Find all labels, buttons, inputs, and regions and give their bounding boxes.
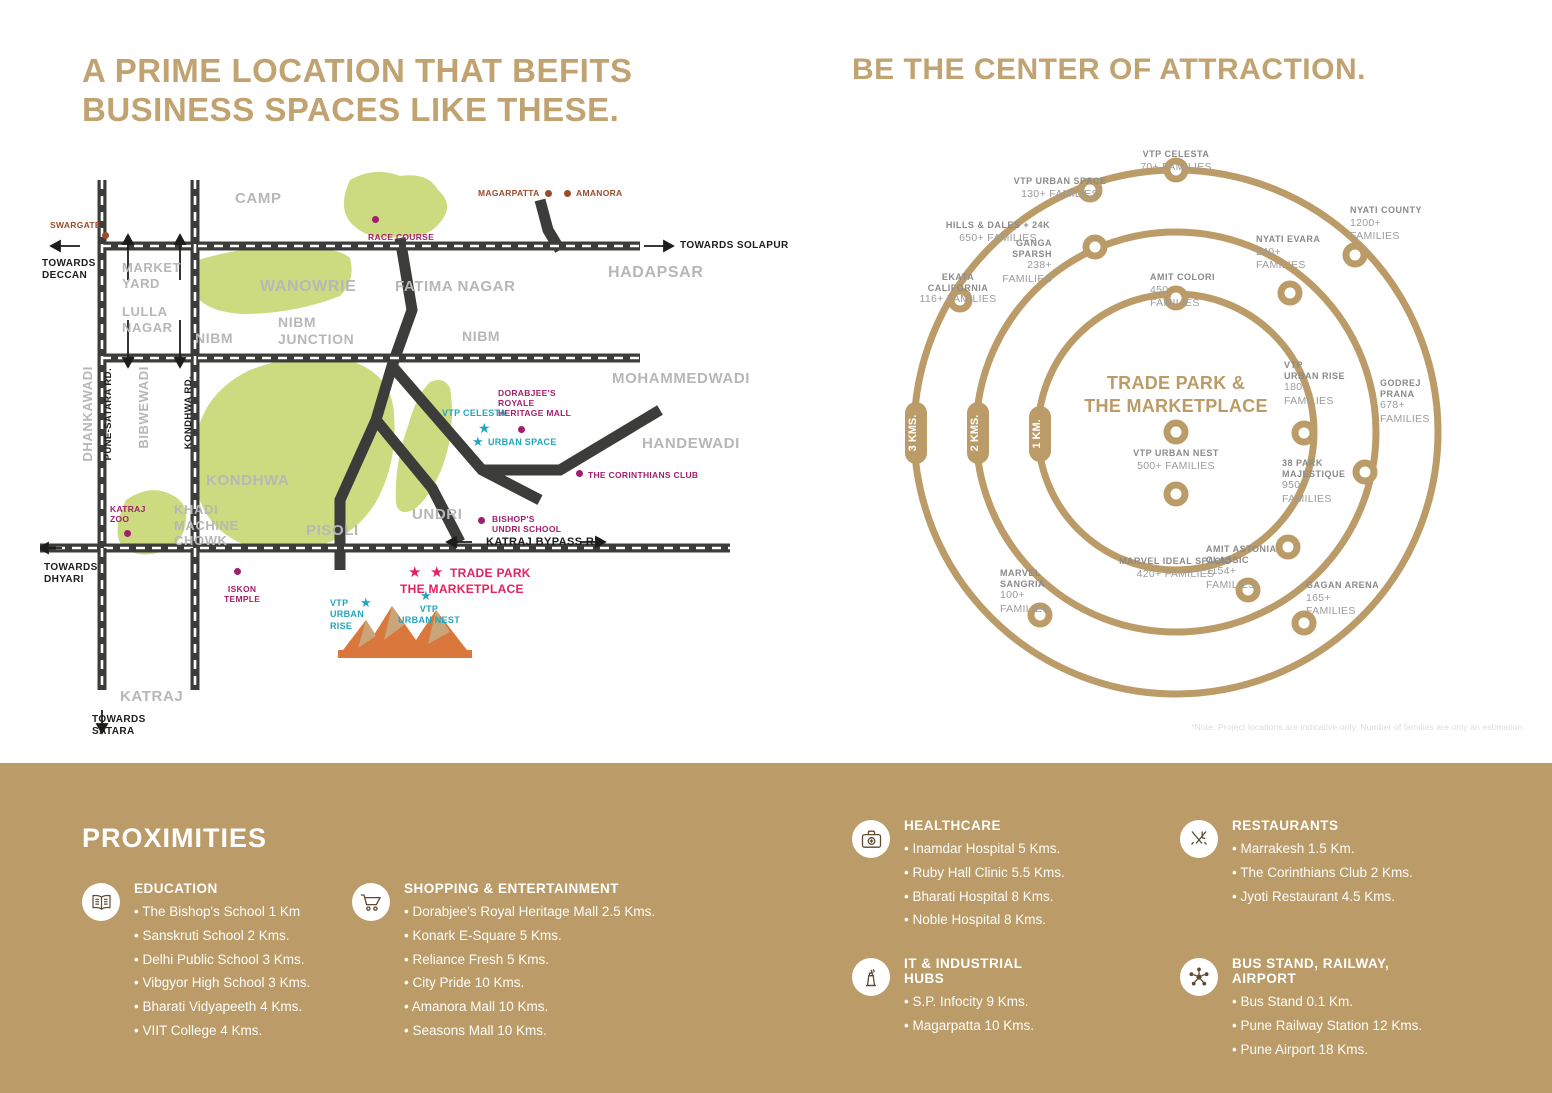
map-area-kondhwa: KONDHWA (206, 472, 289, 489)
location-map: CAMP MARKETYARD LULLANAGAR WANOWRIE NIBM… (40, 170, 780, 750)
category-title-education: EDUCATION (134, 881, 310, 896)
category-list-education: The Bishop's School 1 Km Sanskruti Schoo… (134, 900, 310, 1043)
map-poi-bishops-undri: BISHOP'SUNDRI SCHOOL (492, 514, 561, 534)
list-item: Ruby Hall Clinic 5.5 Kms. (904, 861, 1065, 885)
rings-project-vtp-urban-space: VTP URBAN SPACE130+ FAMILIES (1000, 176, 1120, 202)
map-poi-magarpatta: MAGARPATTA (478, 188, 540, 198)
map-area-hadapsar: HADAPSAR (608, 264, 703, 282)
category-list-transport: Bus Stand 0.1 Km. Pune Railway Station 1… (1232, 990, 1422, 1061)
list-item: Vibgyor High School 3 Kms. (134, 971, 310, 995)
book-icon (82, 883, 120, 921)
category-title-transport: BUS STAND, RAILWAY, AIRPORT (1232, 956, 1422, 986)
map-area-khadi-machine-chowk: KHADIMACHINECHOWK (174, 502, 239, 549)
map-area-nibm-1: NIBM (195, 330, 233, 346)
star-icon-trade-park-1: ★ (408, 563, 421, 581)
proximities-title: PROXIMITIES (82, 823, 267, 854)
category-list-restaurants: Marrakesh 1.5 Km. The Corinthians Club 2… (1232, 837, 1413, 908)
factory-icon (852, 958, 890, 996)
map-poi-amanora: AMANORA (576, 188, 622, 198)
map-area-bibwewadi: BIBWEWADI (136, 366, 151, 449)
rings-project-nyati-evara: NYATI EVARA240+FAMILIES (1256, 234, 1376, 273)
category-title-it-hubs: IT & INDUSTRIAL HUBS (904, 956, 1034, 986)
green-areas (117, 172, 452, 555)
list-item: Bharati Vidyapeeth 4 Kms. (134, 995, 310, 1019)
category-list-healthcare: Inamdar Hospital 5 Kms. Ruby Hall Clinic… (904, 837, 1065, 932)
map-poi-dorabjees: DORABJEE'SROYALEHERITAGE MALL (498, 388, 571, 419)
svg-text:2 KMS.: 2 KMS. (969, 415, 981, 452)
map-roads-svg (40, 170, 780, 750)
list-item: Bus Stand 0.1 Km. (1232, 990, 1422, 1014)
star-icon-trade-park-2: ★ (430, 563, 443, 581)
map-area-pisoli: PISOLI (306, 522, 359, 539)
left-heading: A PRIME LOCATION THAT BEFITS BUSINESS SP… (82, 52, 722, 130)
star-icon-urban-space: ★ (472, 434, 484, 450)
map-area-lulla-nagar: LULLANAGAR (122, 304, 173, 335)
list-item: Amanora Mall 10 Kms. (404, 995, 655, 1019)
category-list-shopping: Dorabjee's Royal Heritage Mall 2.5 Kms. … (404, 900, 655, 1043)
map-area-handewadi: HANDEWADI (642, 435, 740, 452)
rings-project-vtp-urban-rise: VTPURBAN RISE180+FAMILIES (1284, 360, 1404, 408)
map-dot-bishops-undri (478, 517, 485, 524)
map-road-kondhwa: KONDHWA RD. (184, 376, 195, 449)
map-direction-solapur: TOWARDS SOLAPUR (680, 240, 789, 252)
map-area-dhankawadi: DHANKAWADI (80, 366, 95, 462)
map-area-wanowrie: WANOWRIE (260, 278, 356, 296)
map-dot-corinthians (576, 470, 583, 477)
list-item: Jyoti Restaurant 4.5 Kms. (1232, 885, 1413, 909)
right-heading: BE THE CENTER OF ATTRACTION. (852, 52, 1492, 87)
list-item: Konark E-Square 5 Kms. (404, 924, 655, 948)
list-item: Dorabjee's Royal Heritage Mall 2.5 Kms. (404, 900, 655, 924)
map-poi-corinthians: THE CORINTHIANS CLUB (588, 470, 698, 480)
map-vtp-urban-rise-label: VTPURBANRISE (330, 598, 364, 632)
map-vtp-urban-nest-label: VTPURBAN NEST (398, 604, 460, 627)
map-poi-swargate: SWARGATE (50, 220, 101, 230)
category-list-it-hubs: S.P. Infocity 9 Kms. Magarpatta 10 Kms. (904, 990, 1034, 1038)
list-item: Bharati Hospital 8 Kms. (904, 885, 1065, 909)
transport-hub-icon (1180, 958, 1218, 996)
map-area-mohammedwadi: MOHAMMEDWADI (612, 370, 750, 387)
map-direction-satara: TOWARDSSATARA (92, 714, 146, 737)
cutlery-icon (1180, 820, 1218, 858)
svg-text:1 KM.: 1 KM. (1031, 419, 1043, 448)
rings-project-ganga-sparsh: GANGASPARSH238+FAMILIES (922, 238, 1052, 286)
list-item: Pune Airport 18 Kms. (1232, 1038, 1422, 1062)
map-poi-katraj-zoo: KATRAJZOO (110, 504, 146, 524)
map-road-pune-satara: PUNE-SATARA RD. (104, 368, 115, 460)
list-item: The Bishop's School 1 Km (134, 900, 310, 924)
map-area-undri: UNDRI (412, 506, 463, 523)
cart-icon (352, 883, 390, 921)
list-item: VIIT College 4 Kms. (134, 1019, 310, 1043)
list-item: Noble Hospital 8 Kms. (904, 908, 1065, 932)
list-item: Magarpatta 10 Kms. (904, 1014, 1034, 1038)
list-item: S.P. Infocity 9 Kms. (904, 990, 1034, 1014)
rings-project-marvel-ideal-spacio: MARVEL IDEAL SPACIO420+ FAMILIES (1068, 556, 1283, 582)
map-direction-deccan: TOWARDSDECCAN (42, 258, 96, 281)
category-title-healthcare: HEALTHCARE (904, 818, 1065, 833)
map-dot-dorabjees (518, 426, 525, 433)
list-item: Seasons Mall 10 Kms. (404, 1019, 655, 1043)
svg-text:3 KMS.: 3 KMS. (907, 415, 919, 452)
map-area-nibm-2: NIBM (462, 328, 500, 344)
map-vtp-celesta-label: VTP CELESTA (442, 408, 506, 419)
rings-project-38-park-majestique: 38 PARKMAJESTIQUE950+FAMILIES (1282, 458, 1402, 506)
rings-center-title: TRADE PARK &THE MARKETPLACE (1026, 372, 1326, 417)
list-item: Pune Railway Station 12 Kms. (1232, 1014, 1422, 1038)
radial-distance-diagram: 3 KMS. 2 KMS. 1 KM. (900, 150, 1540, 730)
map-dot-magarpatta (545, 190, 552, 197)
map-area-market-yard: MARKETYARD (122, 260, 181, 291)
list-item: Marrakesh 1.5 Km. (1232, 837, 1413, 861)
category-title-restaurants: RESTAURANTS (1232, 818, 1413, 833)
map-dot-iskon-temple (234, 568, 241, 575)
map-area-katraj: KATRAJ (120, 688, 183, 705)
brochure-page: A PRIME LOCATION THAT BEFITS BUSINESS SP… (0, 0, 1552, 1093)
rings-project-amit-colori: AMIT COLORI450+FAMILIES (1150, 272, 1270, 311)
map-trade-park-label: TRADE PARK (450, 566, 531, 581)
map-area-fatima-nagar: FATIMA NAGAR (395, 278, 516, 295)
map-road-katraj-bypass: KATRAJ BYPASS RD (486, 536, 603, 549)
list-item: Reliance Fresh 5 Kms. (404, 948, 655, 972)
map-area-nibm-junction: NIBMJUNCTION (278, 314, 354, 348)
list-item: City Pride 10 Kms. (404, 971, 655, 995)
medical-bag-icon (852, 820, 890, 858)
rings-center-project: VTP URBAN NEST500+ FAMILIES (1086, 448, 1266, 474)
diagram-note: *Note: Project locations are indicative … (1175, 722, 1525, 732)
map-dot-race-course (372, 216, 379, 223)
list-item: Sanskruti School 2 Kms. (134, 924, 310, 948)
list-item: Inamdar Hospital 5 Kms. (904, 837, 1065, 861)
map-vtp-urban-space-label: URBAN SPACE (488, 437, 557, 448)
proximities-footer: PROXIMITIES EDUCATION The Bishop's Schoo… (0, 763, 1552, 1093)
star-icon-urban-rise: ★ (360, 595, 372, 611)
rings-project-vtp-celesta: VTP CELESTA70+ FAMILIES (1116, 149, 1236, 175)
map-direction-dhyari: TOWARDSDHYARI (44, 562, 98, 585)
map-marketplace-label: THE MARKETPLACE (400, 582, 524, 597)
map-dot-katraj-zoo (124, 530, 131, 537)
category-title-shopping: SHOPPING & ENTERTAINMENT (404, 881, 655, 896)
map-poi-iskon-temple: ISKONTEMPLE (224, 584, 260, 604)
map-dot-swargate (102, 232, 109, 239)
map-area-camp: CAMP (235, 190, 282, 207)
list-item: Delhi Public School 3 Kms. (134, 948, 310, 972)
map-poi-race-course: RACE COURSE (368, 232, 434, 242)
map-dot-amanora (564, 190, 571, 197)
list-item: The Corinthians Club 2 Kms. (1232, 861, 1413, 885)
